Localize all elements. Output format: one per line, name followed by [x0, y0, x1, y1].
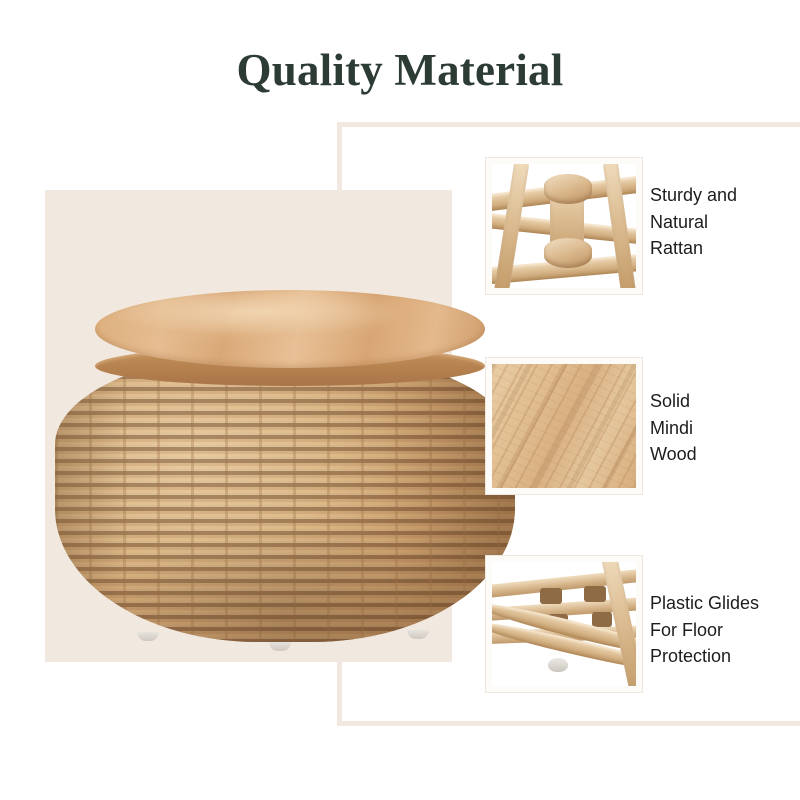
plastic-glide-part	[548, 658, 568, 672]
table-top-highlight	[95, 288, 485, 366]
feature-label-wood: Solid Mindi Wood	[650, 388, 800, 468]
feature-label-wood-line3: Wood	[650, 441, 800, 468]
rattan-weave-closeup-icon	[492, 164, 636, 288]
feature-photo-rattan	[486, 158, 642, 294]
feature-label-rattan-line1: Sturdy and	[650, 182, 800, 209]
weave-illustration	[492, 164, 636, 288]
wood-grain-illustration	[492, 364, 636, 488]
table-glide-center	[269, 642, 291, 651]
mindi-wood-grain-closeup-icon	[492, 364, 636, 488]
feature-label-glides: Plastic Glides For Floor Protection	[650, 590, 800, 670]
feature-label-glides-line1: Plastic Glides	[650, 590, 800, 617]
feature-label-rattan-line3: Rattan	[650, 235, 800, 262]
feature-label-wood-line1: Solid	[650, 388, 800, 415]
plastic-glide-underside-closeup-icon	[492, 562, 636, 686]
feature-photo-wood	[486, 358, 642, 494]
page-title: Quality Material	[0, 46, 800, 96]
rattan-coffee-table-image	[55, 290, 515, 690]
feature-photo-glides	[486, 556, 642, 692]
feature-label-rattan: Sturdy and Natural Rattan	[650, 182, 800, 262]
feature-label-glides-line2: For Floor	[650, 617, 800, 644]
infographic-canvas: Quality Material	[0, 0, 800, 800]
feature-label-rattan-line2: Natural	[650, 209, 800, 236]
rattan-drum-base	[55, 352, 515, 642]
hero-product-panel	[45, 190, 452, 662]
feature-label-glides-line3: Protection	[650, 643, 800, 670]
feature-label-wood-line2: Mindi	[650, 415, 800, 442]
underside-illustration	[492, 562, 636, 686]
